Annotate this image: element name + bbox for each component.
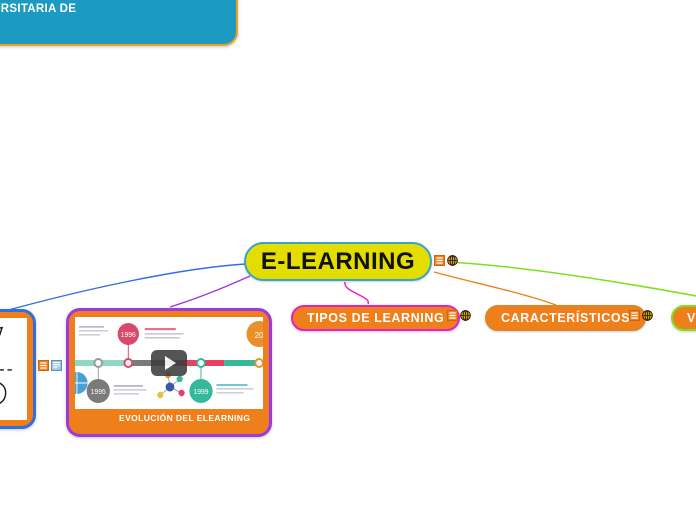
node-left-image-card[interactable] xyxy=(0,309,36,429)
note-icon[interactable] xyxy=(38,360,49,371)
note-icon[interactable] xyxy=(434,255,445,266)
root-attachment-icons[interactable] xyxy=(434,255,458,266)
node-ventajas[interactable]: VEN xyxy=(671,305,696,331)
caracteristicos-attachment-icons[interactable] xyxy=(629,310,653,321)
connector-root-to-left-image xyxy=(0,264,246,314)
connector-root-to-tipos xyxy=(345,282,369,304)
svg-text:1995: 1995 xyxy=(91,389,106,396)
node-tipos-de-learning[interactable]: TIPOS DE LEARNING xyxy=(291,305,460,331)
root-node-e-learning[interactable]: E-LEARNING xyxy=(244,242,432,281)
globe-icon[interactable] xyxy=(642,310,653,321)
node-caracteristicos-label: CARACTERÍSTICOS xyxy=(501,311,630,325)
play-button[interactable] xyxy=(151,350,187,376)
banner-text: O N UNIVERSITARIA DE xyxy=(0,0,226,18)
globe-icon[interactable] xyxy=(447,255,458,266)
node-banner-institution[interactable]: O N UNIVERSITARIA DE xyxy=(0,0,238,46)
play-triangle-icon xyxy=(165,356,176,370)
note-icon[interactable] xyxy=(447,310,458,321)
text-document-icon[interactable] xyxy=(51,360,62,371)
svg-text:1999: 1999 xyxy=(193,389,208,396)
connector-root-to-ventajas xyxy=(448,262,696,296)
node-tipos-label: TIPOS DE LEARNING xyxy=(307,311,444,325)
video-thumbnail[interactable]: 1996 1995 xyxy=(75,317,263,409)
left-image-attachment-icons[interactable] xyxy=(38,360,62,371)
node-video-evolucion-elearning[interactable]: 1996 1995 xyxy=(66,308,272,437)
connector-root-to-video xyxy=(170,276,250,307)
globe-icon[interactable] xyxy=(460,310,471,321)
node-caracteristicos[interactable]: CARACTERÍSTICOS xyxy=(485,305,646,331)
connector-root-to-caracteristicos xyxy=(434,272,556,305)
node-ventajas-label: VEN xyxy=(687,311,696,325)
left-image-thumbnail xyxy=(0,318,27,420)
svg-text:1996: 1996 xyxy=(121,332,136,339)
video-caption: EVOLUCIÓN DEL ELEARNING xyxy=(75,413,263,424)
note-icon[interactable] xyxy=(629,310,640,321)
root-node-label: E-LEARNING xyxy=(261,248,415,276)
svg-text:20: 20 xyxy=(255,331,263,340)
tipos-attachment-icons[interactable] xyxy=(447,310,471,321)
mindmap-canvas[interactable]: O N UNIVERSITARIA DE xyxy=(0,0,696,520)
